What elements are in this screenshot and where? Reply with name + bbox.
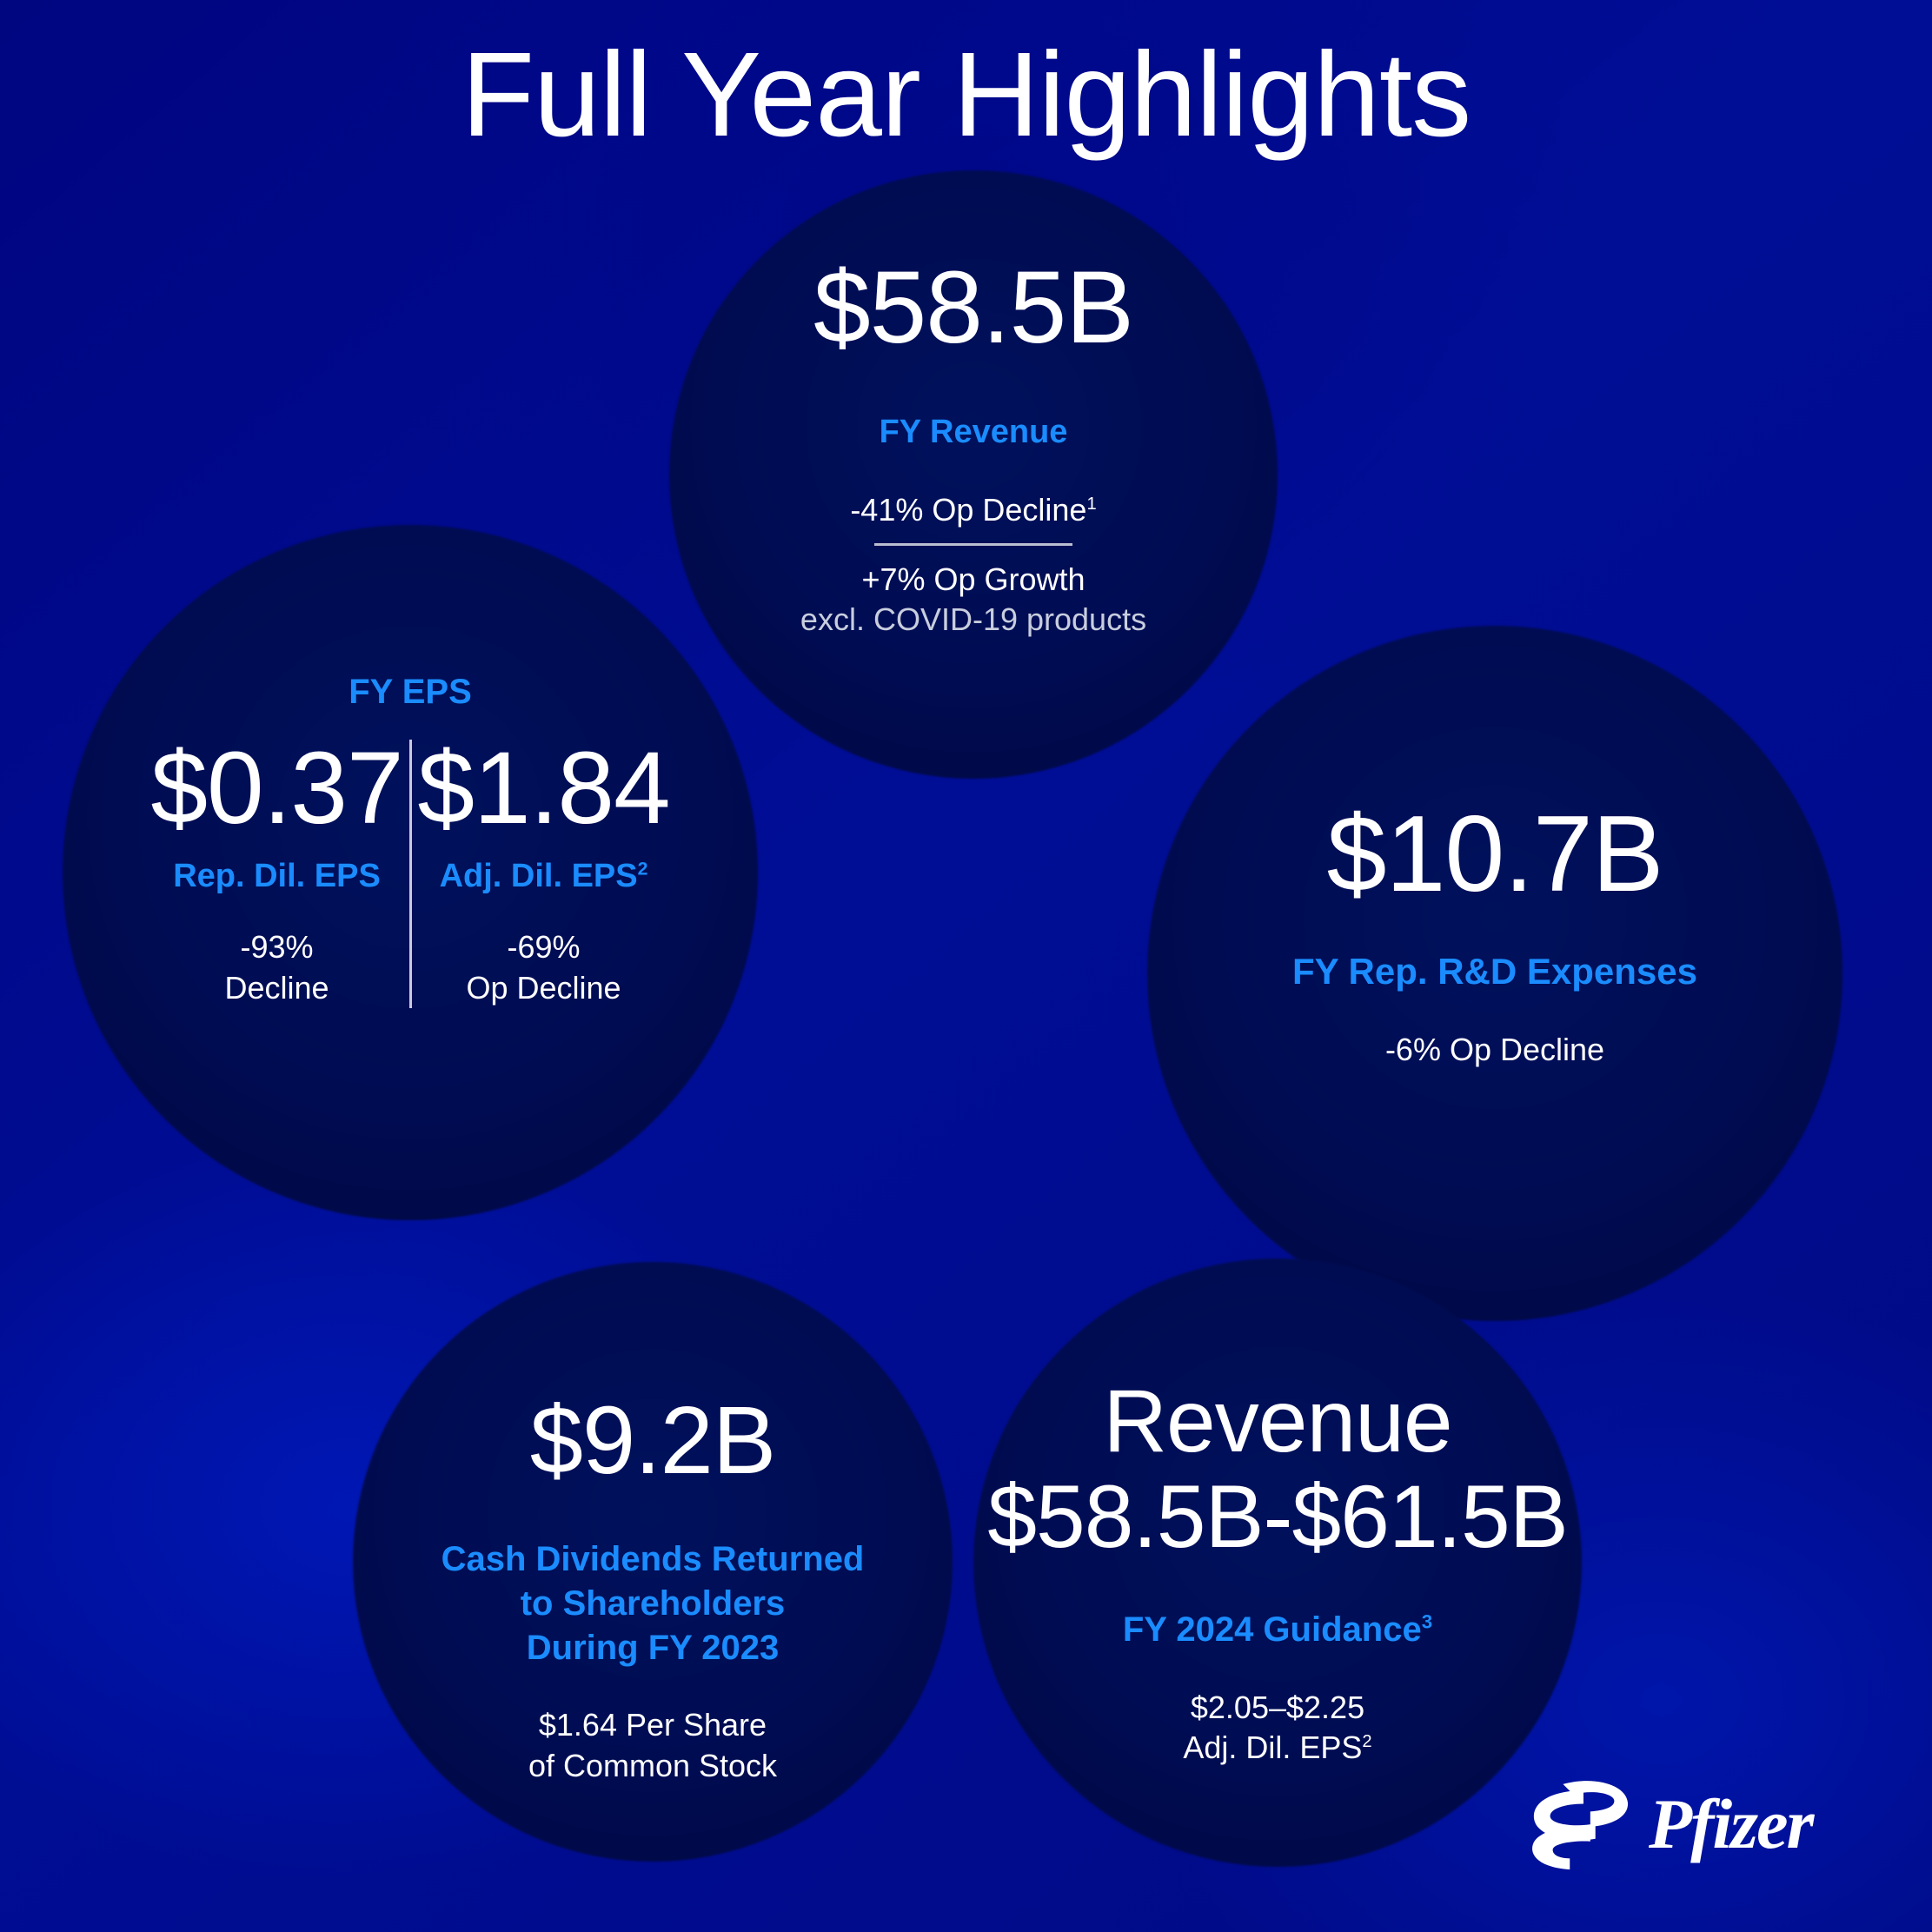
- infographic-canvas: Full Year Highlights $58.5B FY Revenue -…: [0, 0, 1932, 1932]
- stat-card-eps: FY EPS $0.37 Rep. Dil. EPS -93% Decline …: [63, 525, 758, 1220]
- rnd-value: $10.7B: [1326, 798, 1663, 912]
- eps-adjusted-label-text: Adj. Dil. EPS: [440, 858, 638, 894]
- eps-reported-value: $0.37: [150, 734, 402, 843]
- dividends-label-line2: to Shareholders: [521, 1584, 786, 1623]
- eps-vertical-divider: [409, 740, 412, 1008]
- guidance-detail-line1: $2.05–$2.25: [1191, 1690, 1364, 1725]
- footnote-marker-1: 1: [1086, 495, 1096, 514]
- dividends-detail-line2: of Common Stock: [528, 1748, 777, 1783]
- pfizer-wordmark-icon: Pfizer: [1649, 1785, 1883, 1869]
- stat-card-dividends: $9.2B Cash Dividends Returned to Shareho…: [353, 1262, 953, 1862]
- guidance-detail-line2: Adj. Dil. EPS: [1183, 1730, 1362, 1765]
- guidance-value: Revenue $58.5B-$61.5B: [987, 1373, 1568, 1564]
- footnote-marker-2: 2: [638, 858, 648, 879]
- revenue-value: $58.5B: [813, 254, 1133, 362]
- eps-column-reported: $0.37 Rep. Dil. EPS -93% Decline: [150, 734, 404, 1008]
- eps-reported-detail-line2: Decline: [224, 970, 329, 1006]
- eps-reported-detail: -93% Decline: [224, 927, 329, 1009]
- pfizer-logo: Pfizer: [1530, 1770, 1883, 1883]
- pfizer-helix-mark-icon: [1530, 1779, 1633, 1875]
- eps-reported-label: Rep. Dil. EPS: [173, 855, 381, 898]
- revenue-detail-op-decline-text: -41% Op Decline: [850, 492, 1086, 528]
- footnote-marker-2b: 2: [1362, 1732, 1371, 1751]
- eps-adjusted-label: Adj. Dil. EPS2: [440, 855, 648, 898]
- revenue-divider-rule: [874, 543, 1072, 546]
- eps-adjusted-detail-line1: -69%: [507, 929, 580, 965]
- eps-adjusted-value: $1.84: [417, 734, 669, 843]
- dividends-label-line1: Cash Dividends Returned: [442, 1540, 865, 1578]
- dividends-detail-line1: $1.64 Per Share: [539, 1707, 767, 1743]
- svg-text:Pfizer: Pfizer: [1649, 1785, 1815, 1863]
- stat-card-guidance: Revenue $58.5B-$61.5B FY 2024 Guidance3 …: [973, 1258, 1582, 1867]
- dividends-label: Cash Dividends Returned to Shareholders …: [442, 1537, 865, 1671]
- guidance-detail: $2.05–$2.25 Adj. Dil. EPS2: [1183, 1688, 1371, 1769]
- eps-reported-detail-line1: -93%: [240, 929, 313, 965]
- revenue-detail-op-decline: -41% Op Decline1: [850, 490, 1096, 531]
- rnd-detail-op-decline: -6% Op Decline: [1385, 1030, 1604, 1071]
- guidance-value-line1: Revenue: [1103, 1371, 1451, 1471]
- guidance-label-text: FY 2024 Guidance: [1123, 1610, 1422, 1649]
- eps-split-group: $0.37 Rep. Dil. EPS -93% Decline $1.84 A…: [63, 734, 758, 1008]
- eps-adjusted-detail: -69% Op Decline: [466, 927, 621, 1009]
- eps-adjusted-detail-line2: Op Decline: [466, 970, 621, 1006]
- guidance-value-line2: $58.5B-$61.5B: [987, 1467, 1568, 1566]
- stat-card-rnd: $10.7B FY Rep. R&D Expenses -6% Op Decli…: [1147, 626, 1842, 1321]
- revenue-detail-op-growth: +7% Op Growth: [861, 560, 1085, 601]
- rnd-label: FY Rep. R&D Expenses: [1292, 948, 1697, 995]
- page-title: Full Year Highlights: [0, 24, 1932, 166]
- footnote-marker-3: 3: [1422, 1611, 1432, 1633]
- eps-column-adjusted: $1.84 Adj. Dil. EPS2 -69% Op Decline: [417, 734, 671, 1008]
- revenue-detail-excl-covid: excl. COVID-19 products: [800, 600, 1146, 641]
- guidance-label: FY 2024 Guidance3: [1123, 1608, 1432, 1652]
- eps-header: FY EPS: [349, 673, 472, 712]
- eps-reported-label-text: Rep. Dil. EPS: [173, 858, 381, 894]
- revenue-label: FY Revenue: [880, 411, 1068, 454]
- dividends-value: $9.2B: [530, 1391, 775, 1492]
- dividends-detail: $1.64 Per Share of Common Stock: [528, 1705, 777, 1787]
- dividends-label-line3: During FY 2023: [527, 1629, 779, 1667]
